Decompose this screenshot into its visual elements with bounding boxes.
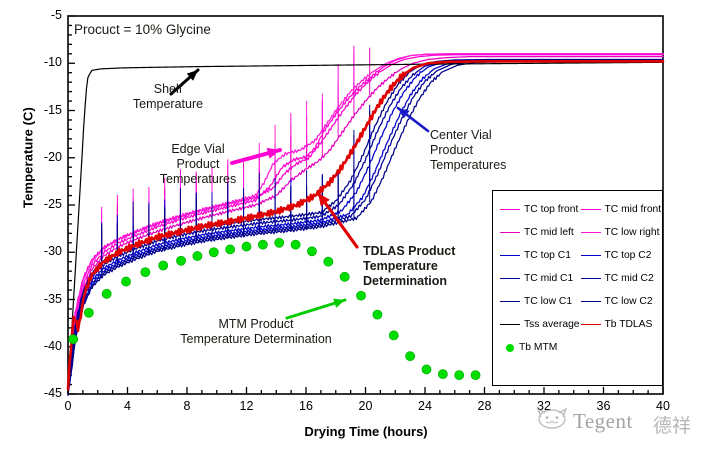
data-point — [356, 291, 365, 300]
data-point — [406, 352, 415, 361]
legend-line-marker — [500, 278, 520, 279]
legend-item-tb-mtm: Tb MTM — [497, 342, 578, 353]
legend-row: Tss averageTb TDLAS — [497, 313, 658, 336]
legend-item-tc-mid-c1: TC mid C1 — [497, 273, 578, 284]
annotation-center-vial: Center Vial Product Temperatures — [430, 128, 550, 173]
legend-row: TC mid C1TC mid C2 — [497, 267, 658, 290]
data-point — [121, 277, 130, 286]
data-point — [340, 272, 349, 281]
x-tick-label: 20 — [346, 399, 386, 413]
x-axis-title: Drying Time (hours) — [68, 424, 664, 439]
legend-label: TC low C1 — [524, 296, 572, 307]
legend-line-marker — [581, 278, 601, 279]
y-tick-label: -35 — [22, 294, 62, 304]
data-point — [209, 248, 218, 257]
legend-row: TC top C1TC top C2 — [497, 244, 658, 267]
data-point — [193, 251, 202, 260]
data-point — [242, 242, 251, 251]
x-tick-label: 28 — [465, 399, 505, 413]
data-point — [275, 238, 284, 247]
y-tick-label: -20 — [22, 152, 62, 162]
legend-line-marker — [500, 324, 520, 325]
annotation-tdlas: TDLAS Product Temperature Determination — [363, 244, 513, 289]
y-axis-tick-labels: -5-10-15-20-25-30-35-40-45 — [18, 0, 62, 450]
legend-line-marker — [581, 255, 601, 256]
legend-label: TC top front — [524, 204, 578, 215]
legend-row: TC top frontTC mid front — [497, 198, 658, 221]
legend-line-marker — [500, 301, 520, 302]
annotation-tdlas-line1: TDLAS Product — [363, 244, 513, 259]
legend-row: Tb MTM — [497, 336, 658, 359]
legend-line-marker — [581, 232, 601, 233]
annotation-edge-vial: Edge Vial Product Temperatures — [140, 142, 256, 187]
x-tick-label: 32 — [524, 399, 564, 413]
y-tick-label: -10 — [22, 57, 62, 67]
annotation-shelf-temperature: Shelf Temperature — [116, 82, 220, 112]
legend-line-marker — [500, 232, 520, 233]
x-tick-label: 36 — [584, 399, 624, 413]
legend-item-tc-top-front: TC top front — [497, 204, 578, 215]
legend-label: TC mid left — [524, 227, 574, 238]
legend-item-tc-mid-front: TC mid front — [578, 204, 659, 215]
legend-line-marker — [500, 209, 520, 210]
annotation-mtm: MTM Product Temperature Determination — [176, 317, 336, 347]
legend-label: Tb MTM — [519, 342, 557, 353]
legend-label: TC top C1 — [524, 250, 571, 261]
x-tick-label: 12 — [227, 399, 267, 413]
data-point — [373, 310, 382, 319]
chart-legend: TC top frontTC mid frontTC mid leftTC lo… — [492, 190, 663, 386]
x-tick-label: 4 — [108, 399, 148, 413]
legend-label: TC mid C2 — [605, 273, 654, 284]
x-tick-label: 8 — [167, 399, 207, 413]
x-tick-label: 24 — [405, 399, 445, 413]
y-tick-label: -25 — [22, 199, 62, 209]
annotation-center-line2: Product Temperatures — [430, 143, 550, 173]
legend-label: TC mid C1 — [524, 273, 573, 284]
data-point — [422, 365, 431, 374]
legend-label: TC mid front — [605, 204, 662, 215]
annotation-mtm-line2: Temperature Determination — [176, 332, 336, 347]
x-tick-label: 0 — [48, 399, 88, 413]
y-tick-label: -40 — [22, 341, 62, 351]
data-point — [455, 371, 464, 380]
data-point — [226, 245, 235, 254]
legend-item-tc-low-c2: TC low C2 — [578, 296, 659, 307]
data-point — [102, 289, 111, 298]
data-point — [389, 331, 398, 340]
legend-item-tss-average: Tss average — [497, 319, 578, 330]
data-point — [258, 240, 267, 249]
annotation-shelf-line2: Temperature — [116, 97, 220, 112]
data-point — [438, 370, 447, 379]
data-point — [291, 240, 300, 249]
chart-note-product: Procuct = 10% Glycine — [74, 22, 211, 37]
legend-label: Tb TDLAS — [605, 319, 653, 330]
annotation-shelf-line1: Shelf — [116, 82, 220, 97]
legend-row: TC low C1TC low C2 — [497, 290, 658, 313]
legend-line-marker — [581, 301, 601, 302]
legend-label: TC top C2 — [605, 250, 652, 261]
legend-item-tc-low-right: TC low right — [578, 227, 659, 238]
legend-label: TC low right — [605, 227, 660, 238]
data-point — [84, 308, 93, 317]
legend-item-tc-mid-c2: TC mid C2 — [578, 273, 659, 284]
annotation-edge-line2: Product Temperatures — [140, 157, 256, 187]
legend-line-marker — [500, 255, 520, 256]
annotation-tdlas-line2: Temperature Determination — [363, 259, 513, 289]
data-point — [141, 268, 150, 277]
y-tick-label: -5 — [22, 10, 62, 20]
y-tick-label: -45 — [22, 388, 62, 398]
data-point — [159, 261, 168, 270]
legend-label: Tss average — [524, 319, 580, 330]
legend-line-marker — [581, 209, 601, 210]
data-point — [324, 257, 333, 266]
legend-line-marker — [581, 324, 601, 325]
y-tick-label: -15 — [22, 105, 62, 115]
legend-row: TC mid leftTC low right — [497, 221, 658, 244]
x-axis-tick-labels: 0481216202428323640 — [0, 399, 714, 419]
annotation-center-line1: Center Vial — [430, 128, 550, 143]
data-point — [176, 256, 185, 265]
data-point — [471, 371, 480, 380]
annotation-mtm-line1: MTM Product — [176, 317, 336, 332]
legend-item-tc-low-c1: TC low C1 — [497, 296, 578, 307]
x-tick-label: 40 — [643, 399, 683, 413]
annotation-edge-line1: Edge Vial — [140, 142, 256, 157]
legend-item-tc-top-c1: TC top C1 — [497, 250, 578, 261]
data-point — [69, 335, 78, 344]
x-tick-label: 16 — [286, 399, 326, 413]
data-point — [307, 247, 316, 256]
legend-item-tb-tdlas: Tb TDLAS — [578, 319, 659, 330]
legend-item-tc-top-c2: TC top C2 — [578, 250, 659, 261]
y-tick-label: -30 — [22, 246, 62, 256]
legend-dot-marker — [506, 344, 514, 352]
legend-label: TC low C2 — [605, 296, 653, 307]
legend-item-tc-mid-left: TC mid left — [497, 227, 578, 238]
